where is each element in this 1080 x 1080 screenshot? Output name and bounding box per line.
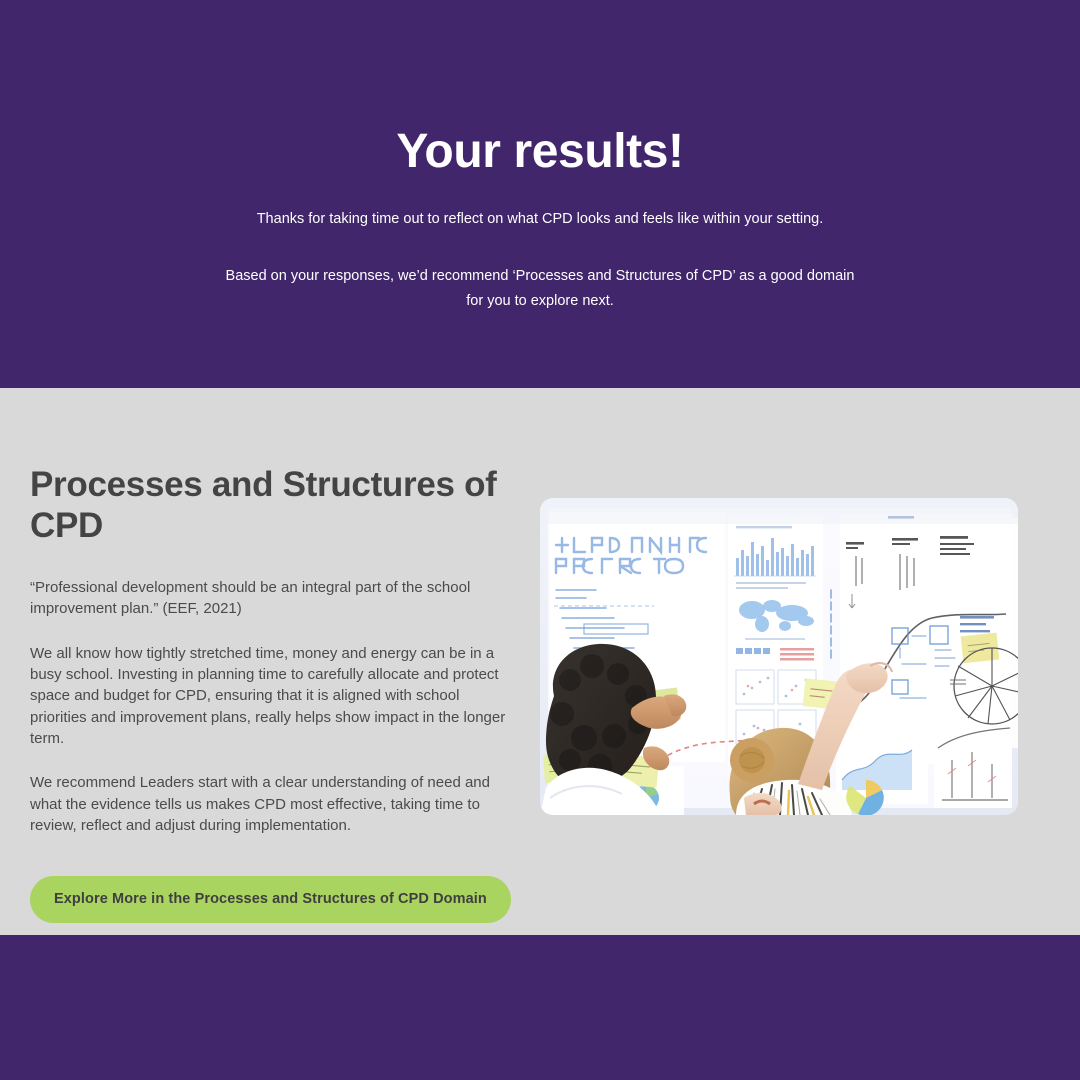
page-title: Your results!	[120, 0, 960, 179]
hero-subtitle: Thanks for taking time out to reflect on…	[120, 208, 960, 230]
whiteboard-photo	[540, 498, 1018, 815]
domain-quote: “Professional development should be an i…	[30, 577, 508, 620]
content-column: Processes and Structures of CPD “Profess…	[30, 388, 530, 923]
explore-domain-button[interactable]: Explore More in the Processes and Struct…	[30, 876, 511, 923]
results-page: Your results! Thanks for taking time out…	[0, 0, 1080, 1080]
domain-paragraph-1: We all know how tightly stretched time, …	[30, 643, 508, 749]
hero-section: Your results! Thanks for taking time out…	[0, 0, 1080, 388]
whiteboard-photo-illustration	[540, 498, 1018, 815]
domain-paragraph-2: We recommend Leaders start with a clear …	[30, 772, 508, 836]
domain-heading: Processes and Structures of CPD	[30, 465, 500, 546]
footer-section	[0, 935, 1080, 1080]
hero-recommendation: Based on your responses, we’d recommend …	[220, 264, 860, 313]
photo-column	[530, 388, 1050, 815]
main-content: Processes and Structures of CPD “Profess…	[0, 388, 1080, 935]
